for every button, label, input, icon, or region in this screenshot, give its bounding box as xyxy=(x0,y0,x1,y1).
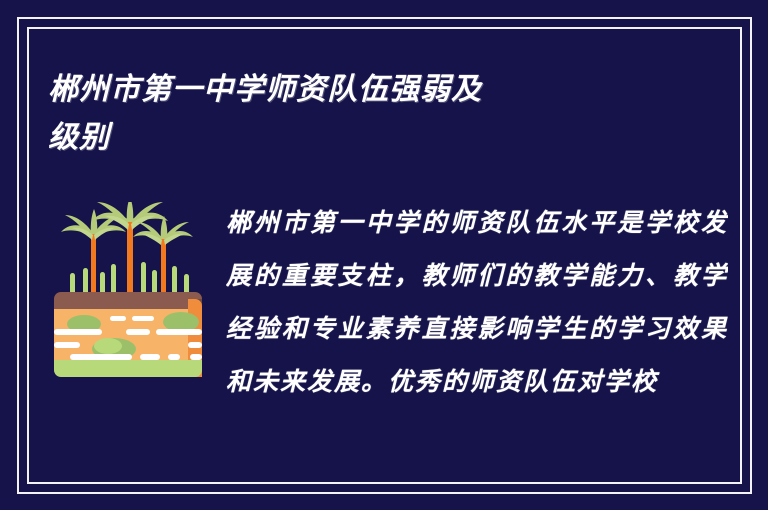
palm-island-illustration xyxy=(48,202,208,382)
content-row: 郴州市第一中学的师资队伍水平是学校发展的重要支柱，教师们的教学能力、教学经验和专… xyxy=(48,196,728,408)
page-title: 郴州市第一中学师资队伍强弱及 级别 xyxy=(48,66,648,162)
sand-island-block xyxy=(54,292,202,377)
poster-canvas: 郴州市第一中学师资队伍强弱及 级别 xyxy=(0,0,768,510)
title-line-1: 郴州市第一中学师资队伍强弱及 xyxy=(48,66,648,114)
body-paragraph: 郴州市第一中学的师资队伍水平是学校发展的重要支柱，教师们的教学能力、教学经验和专… xyxy=(226,196,728,408)
title-line-2: 级别 xyxy=(48,114,648,162)
